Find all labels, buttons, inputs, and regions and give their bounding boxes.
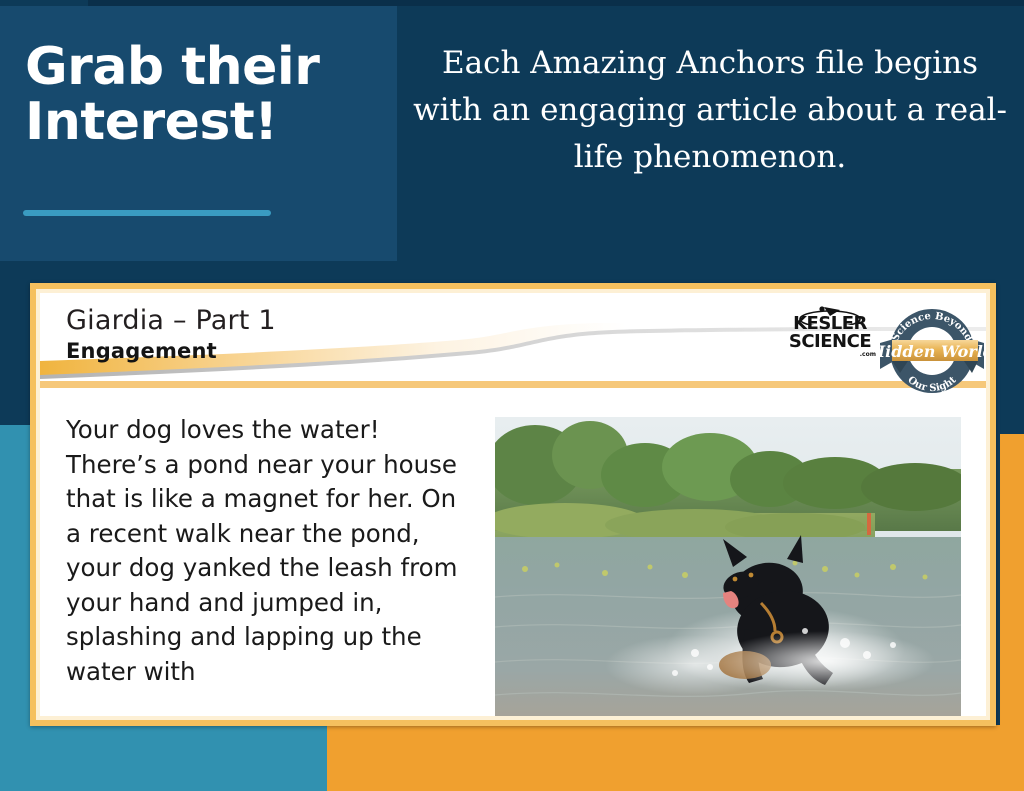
badge-banner-text: Hidden World (878, 342, 986, 361)
hidden-world-badge: Science Beyond Our Sight Hidden World (878, 299, 986, 403)
headline-line-2: Interest! (25, 95, 385, 150)
background-orange-right-block (1000, 434, 1024, 734)
lead-paragraph: Each Amazing Anchors file begins with an… (410, 40, 1010, 181)
document-header: Giardia – Part 1 Engagement KESLER SCIEN… (40, 293, 986, 389)
kesler-logo-line-2: SCIENCE (784, 333, 876, 351)
document-card: Giardia – Part 1 Engagement KESLER SCIEN… (30, 283, 996, 726)
background-orange-bottom-block (327, 725, 1024, 791)
document-page: Giardia – Part 1 Engagement KESLER SCIEN… (40, 293, 986, 716)
document-subtitle: Engagement (66, 339, 217, 363)
slide-canvas: Grab their Interest! Each Amazing Anchor… (0, 0, 1024, 791)
kesler-logo-line-3: .com (784, 352, 876, 358)
document-card-inner-border: Giardia – Part 1 Engagement KESLER SCIEN… (36, 289, 990, 720)
headline-underline-rule (23, 210, 271, 216)
kesler-science-logo: KESLER SCIENCE .com (784, 315, 876, 358)
document-body-text: Your dog loves the water! There’s a pond… (66, 413, 472, 689)
slide-headline: Grab their Interest! (25, 40, 385, 149)
headline-line-1: Grab their (25, 37, 319, 97)
document-body: Your dog loves the water! There’s a pond… (40, 389, 986, 716)
dog-in-pond-photo (495, 417, 961, 716)
document-title: Giardia – Part 1 (66, 305, 276, 336)
background-teal-bottom-block (0, 725, 327, 791)
